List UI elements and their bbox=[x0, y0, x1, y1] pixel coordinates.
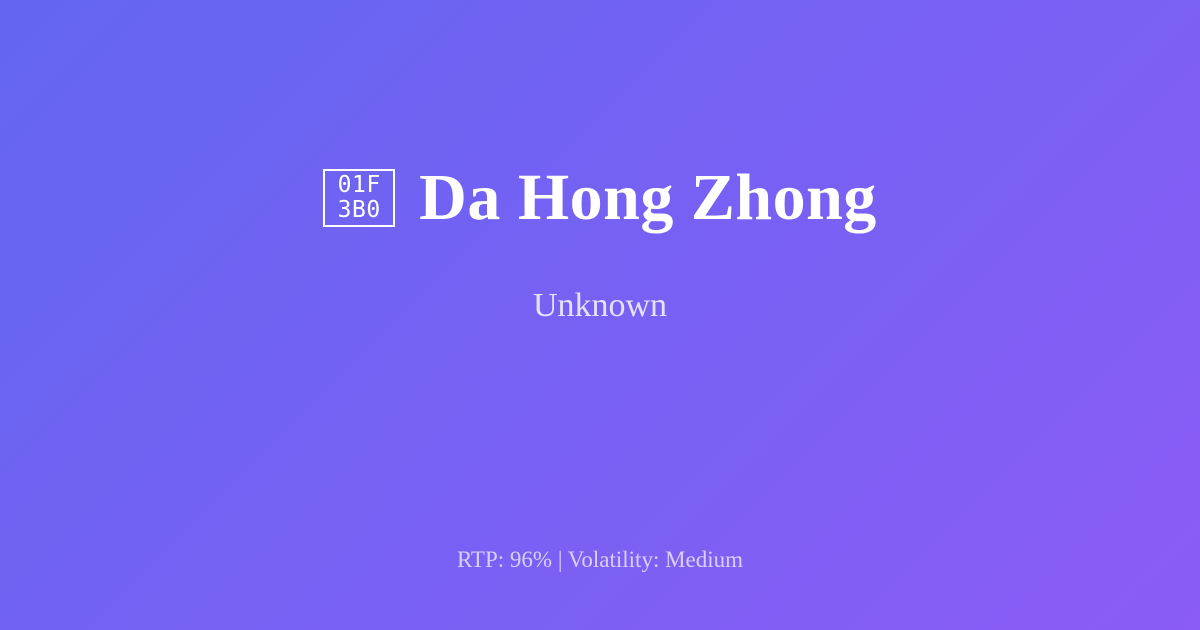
title-row: 01F 3B0 Da Hong Zhong bbox=[323, 163, 877, 232]
og-card: 01F 3B0 Da Hong Zhong Unknown RTP: 96% |… bbox=[0, 0, 1200, 630]
page-title: Da Hong Zhong bbox=[419, 163, 877, 232]
game-meta-line: RTP: 96% | Volatility: Medium bbox=[457, 546, 743, 574]
tofu-hex-row-top: 01F bbox=[338, 173, 381, 198]
page-subtitle: Unknown bbox=[533, 286, 667, 327]
tofu-hex-row-bottom: 3B0 bbox=[338, 198, 381, 223]
hero-section: 01F 3B0 Da Hong Zhong Unknown bbox=[0, 0, 1200, 490]
slot-machine-emoji-icon: 01F 3B0 bbox=[323, 169, 395, 227]
footer-section: RTP: 96% | Volatility: Medium bbox=[0, 490, 1200, 630]
